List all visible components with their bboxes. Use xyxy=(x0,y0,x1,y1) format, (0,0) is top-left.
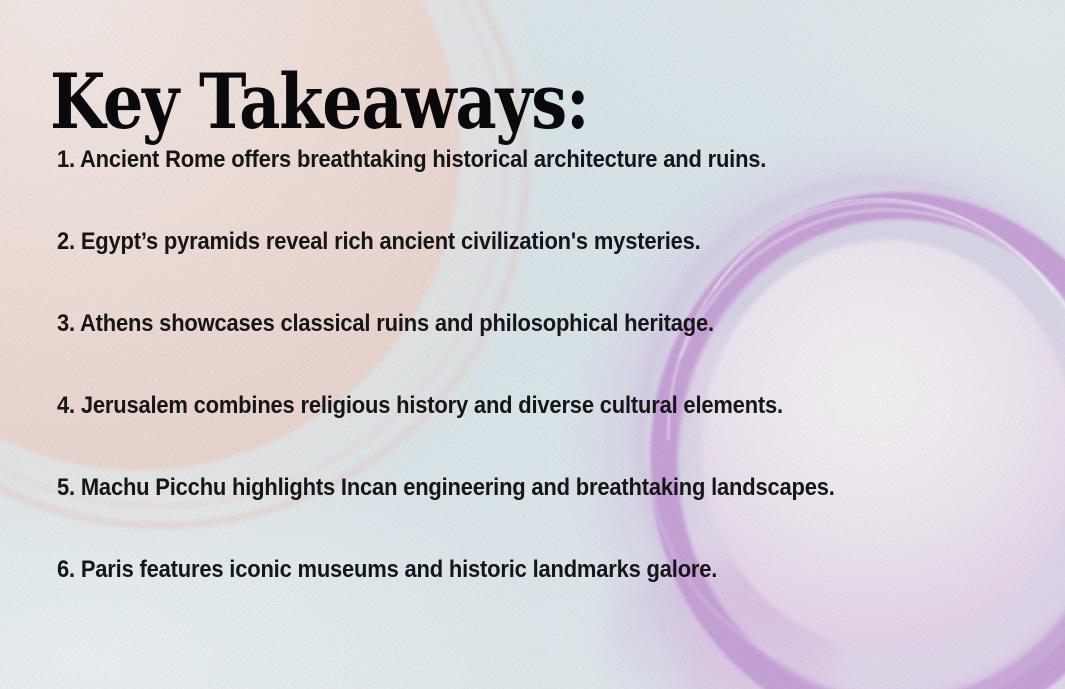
slide-content: Key Takeaways: 1. Ancient Rome offers br… xyxy=(0,0,1065,689)
list-item: 4. Jerusalem combines religious history … xyxy=(57,394,916,476)
list-item: 2. Egypt’s pyramids reveal rich ancient … xyxy=(57,230,916,312)
list-item: 6. Paris features iconic museums and his… xyxy=(57,558,916,640)
list-item: 5. Machu Picchu highlights Incan enginee… xyxy=(57,476,916,558)
list-item: 3. Athens showcases classical ruins and … xyxy=(57,312,916,394)
list-item: 1. Ancient Rome offers breathtaking hist… xyxy=(57,148,916,230)
page-title: Key Takeaways: xyxy=(50,64,588,140)
takeaways-list: 1. Ancient Rome offers breathtaking hist… xyxy=(57,148,1017,640)
slide-canvas: Key Takeaways: 1. Ancient Rome offers br… xyxy=(0,0,1065,689)
